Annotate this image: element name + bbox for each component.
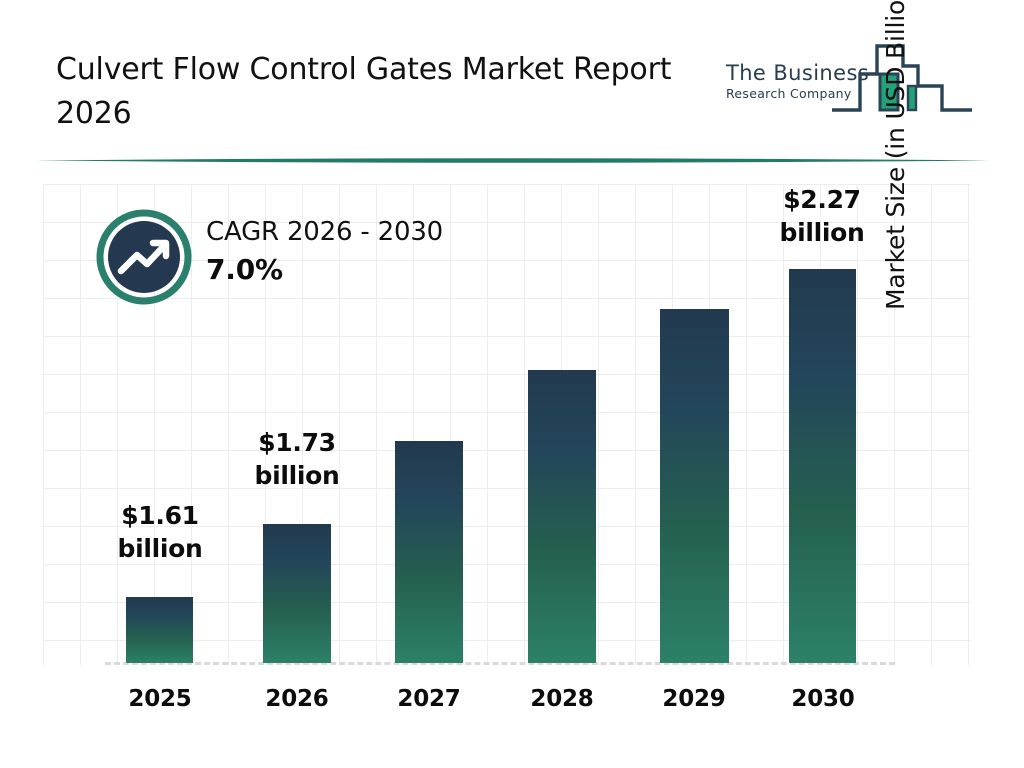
y-axis-title: Market Size (in USD Billion) [881, 0, 921, 310]
cagr-text-block: CAGR 2026 - 2030 7.0% [206, 215, 496, 289]
axis-baseline [105, 662, 895, 668]
header: Culvert Flow Control Gates Market Report… [0, 0, 1024, 160]
x-label-2025: 2025 [100, 686, 220, 712]
trending-up-icon [96, 209, 192, 305]
cagr-value: 7.0% [206, 251, 496, 289]
chart-page: Culvert Flow Control Gates Market Report… [0, 0, 1024, 768]
header-divider [34, 157, 990, 164]
cagr-period-label: CAGR 2026 - 2030 [206, 215, 496, 249]
company-logo: The Business Research Company [722, 36, 974, 126]
x-label-2029: 2029 [634, 686, 754, 712]
x-label-2030: 2030 [763, 686, 883, 712]
x-label-2028: 2028 [502, 686, 622, 712]
page-title: Culvert Flow Control Gates Market Report… [56, 48, 716, 136]
x-label-2026: 2026 [237, 686, 357, 712]
x-label-2027: 2027 [369, 686, 489, 712]
cagr-badge: CAGR 2026 - 2030 7.0% [96, 209, 496, 309]
